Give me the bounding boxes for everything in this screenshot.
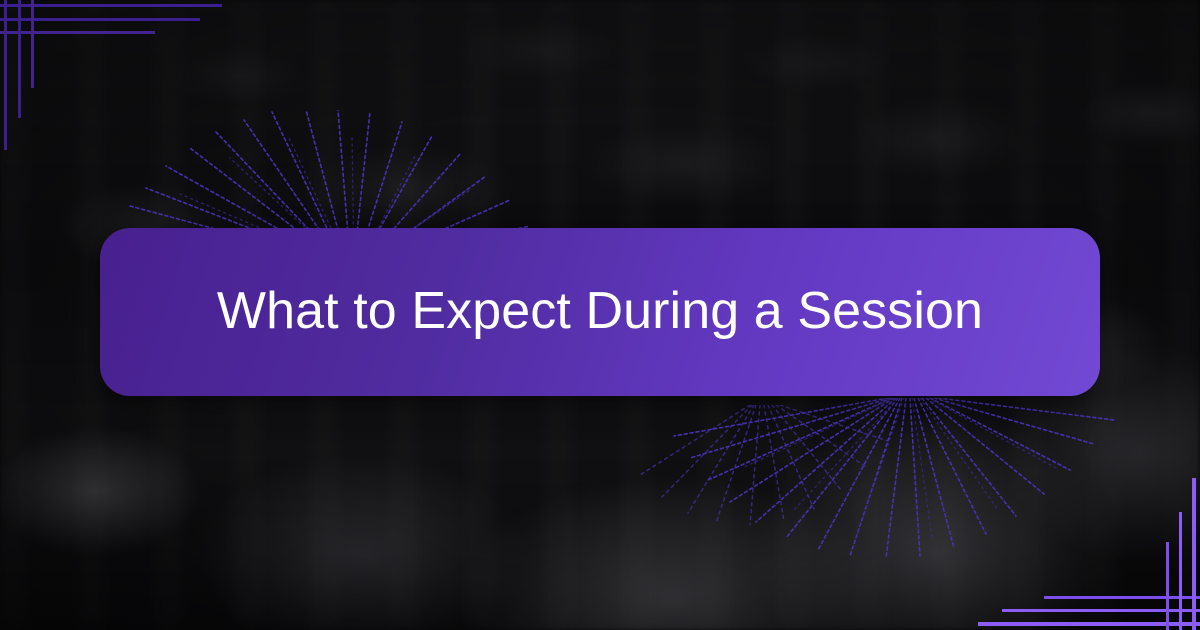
- banner-canvas: What to Expect During a Session: [0, 0, 1200, 630]
- headline-banner: What to Expect During a Session: [100, 228, 1100, 396]
- page-title: What to Expect During a Session: [187, 283, 1013, 340]
